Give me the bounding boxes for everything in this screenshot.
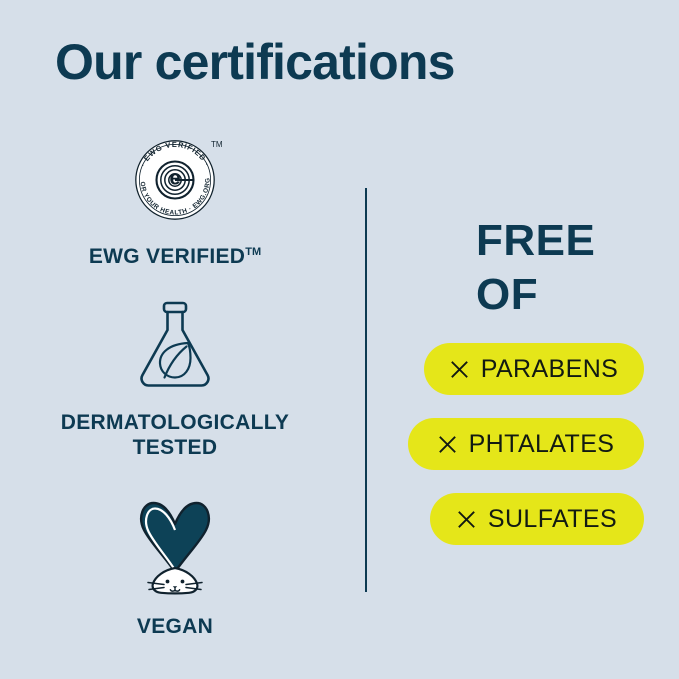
certification-label-vegan: VEGAN	[0, 615, 350, 640]
certification-label-ewg-tm: TM	[245, 246, 261, 258]
page-title: Our certifications	[55, 35, 455, 90]
free-of-heading: FREE OF	[402, 214, 644, 321]
x-mark-icon	[457, 509, 477, 529]
free-of-pill-phtalates[interactable]: PHTALATES	[408, 418, 644, 470]
free-of-pill-label: PARABENS	[481, 357, 619, 382]
certification-label-dermatologically-tested: DERMATOLOGICALLY TESTED	[0, 411, 350, 461]
ewg-verified-seal-icon: · EWG VERIFIED · · FOR YOUR HEALTH · EWG…	[0, 130, 350, 231]
free-of-pill-sulfates[interactable]: SULFATES	[430, 493, 644, 545]
free-of-section: FREE OF PARABENS PHTALATES	[402, 214, 644, 568]
certification-item-dermatologically-tested: DERMATOLOGICALLY TESTED	[0, 296, 350, 461]
svg-text:e: e	[169, 168, 180, 190]
certification-label-derm-line2: TESTED	[0, 436, 350, 461]
free-of-pill-label: PHTALATES	[469, 432, 615, 457]
bunny-heart-ears-icon	[0, 490, 350, 601]
certifications-list: · EWG VERIFIED · · FOR YOUR HEALTH · EWG…	[0, 130, 350, 640]
vertical-divider	[365, 188, 367, 592]
free-of-heading-line1: FREE	[476, 216, 595, 265]
free-of-list: PARABENS PHTALATES SULFATES	[402, 343, 644, 545]
seal-trademark-text: TM	[211, 140, 223, 149]
certification-label-derm-line1: DERMATOLOGICALLY	[0, 411, 350, 436]
certifications-panel: Our certifications · EWG VERIFIED	[0, 0, 679, 679]
certification-item-ewg: · EWG VERIFIED · · FOR YOUR HEALTH · EWG…	[0, 130, 350, 270]
certification-label-ewg: EWG VERIFIEDTM	[0, 245, 350, 270]
flask-with-leaf-icon	[0, 296, 350, 397]
x-mark-icon	[450, 359, 470, 379]
free-of-pill-label: SULFATES	[488, 507, 617, 532]
free-of-pill-parabens[interactable]: PARABENS	[424, 343, 644, 395]
free-of-heading-line2: OF	[476, 268, 644, 322]
certification-item-vegan: VEGAN	[0, 490, 350, 640]
certification-label-ewg-text: EWG VERIFIED	[89, 245, 245, 268]
x-mark-icon	[438, 434, 458, 454]
